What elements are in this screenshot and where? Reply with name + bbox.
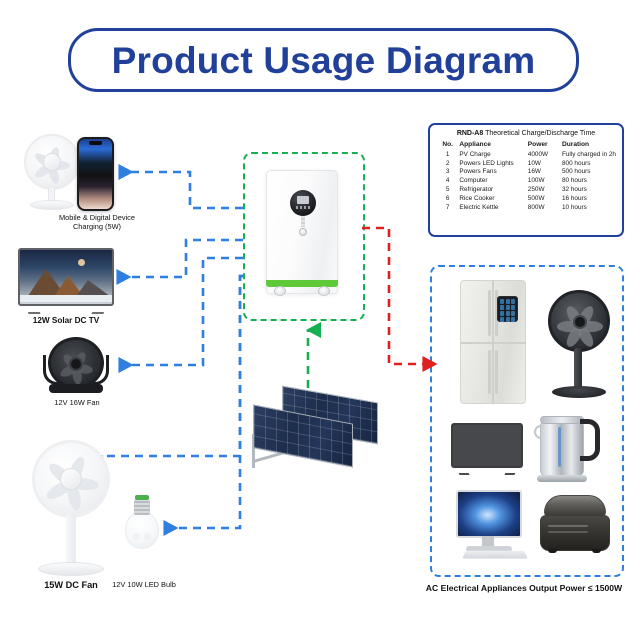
wire-to-phone-charging <box>120 172 243 208</box>
black-floor-fan-icon <box>39 337 113 395</box>
label-mobile-charging: Mobile & Digital Device Charging (5W) <box>22 213 172 232</box>
rice-cooker-icon <box>540 495 610 555</box>
ac-pedestal-fan-icon <box>540 290 618 400</box>
label-15w-dc-fan: 15W DC Fan <box>25 580 117 592</box>
ac-zone-caption: AC Electrical Appliances Output Power ≤ … <box>404 583 640 593</box>
led-bulb-icon <box>125 495 159 553</box>
label-solar-dc-tv: 12W Solar DC TV <box>10 316 122 326</box>
label-12v-16w-fan: 12V 16W Fan <box>36 398 118 407</box>
wire-to-led-bulb <box>165 276 243 528</box>
label-mobile-charging-line2: Charging (5W) <box>22 222 172 231</box>
wire-battery-to-ac-zone <box>362 228 424 364</box>
solar-panel-array-icon <box>248 390 378 472</box>
refrigerator-icon <box>460 280 526 406</box>
desktop-computer-icon <box>452 490 532 562</box>
label-mobile-charging-line1: Mobile & Digital Device <box>22 213 172 222</box>
ac-tv-icon <box>451 423 523 475</box>
battery-storage-unit-icon <box>266 170 338 298</box>
electric-kettle-icon <box>534 415 604 485</box>
smartphone-icon <box>77 137 114 211</box>
solar-dc-tv-icon <box>18 248 114 313</box>
label-12v-10w-led-bulb: 12V 10W LED Bulb <box>105 580 183 589</box>
wire-to-black-fan <box>120 258 243 365</box>
white-pedestal-fan-icon <box>26 440 116 580</box>
